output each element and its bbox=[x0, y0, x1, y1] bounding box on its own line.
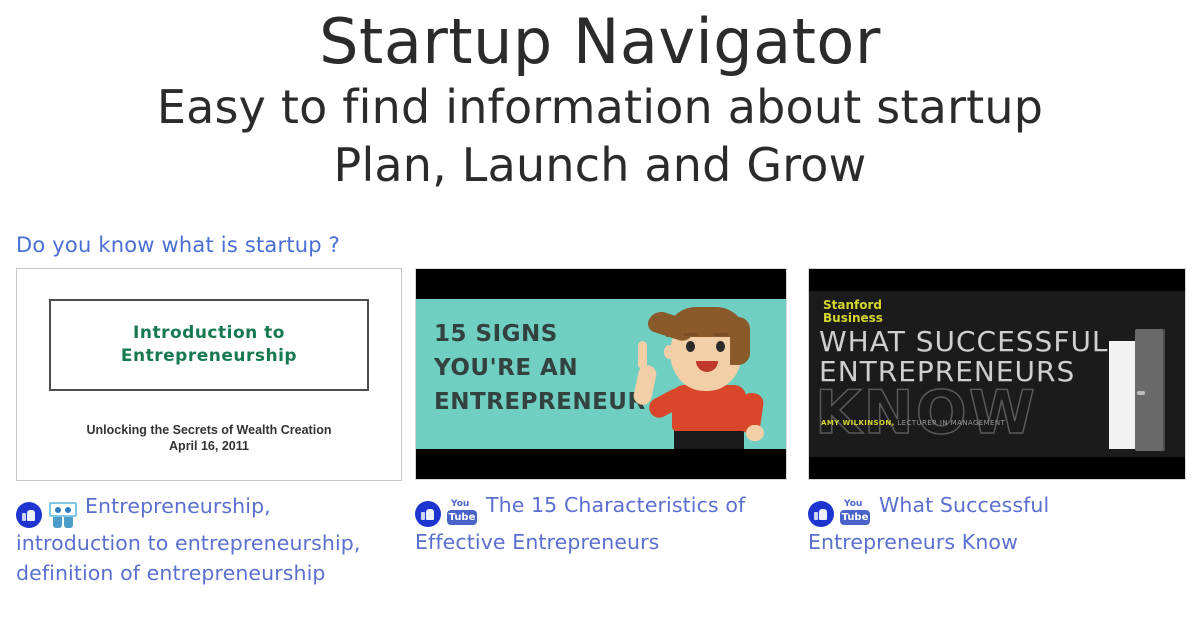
youtube-icon-top-text: You bbox=[451, 500, 469, 509]
page-subtitle-line-2: Plan, Launch and Grow bbox=[0, 136, 1200, 194]
cartoon-entrepreneur-illustration bbox=[630, 297, 780, 449]
result-card-3[interactable]: Stanford Business WHAT SUCCESSFUL ENTREP… bbox=[808, 268, 1186, 557]
outline-word-know: KNOW bbox=[815, 383, 1037, 443]
page-subtitle-line-1: Easy to find information about startup bbox=[0, 78, 1200, 136]
youtube-icon-top-text: You bbox=[844, 500, 862, 509]
result-card-1[interactable]: Introduction to Entrepreneurship Unlocki… bbox=[16, 268, 402, 588]
slide-page: Startup Navigator Easy to find informati… bbox=[0, 0, 1200, 630]
result-caption-3[interactable]: You Tube What Successful Entrepreneurs K… bbox=[808, 490, 1186, 557]
like-icon[interactable] bbox=[415, 501, 441, 527]
result-caption-2[interactable]: You Tube The 15 Characteristics of Effec… bbox=[415, 490, 787, 557]
letterbox-bottom bbox=[809, 457, 1185, 479]
slide-title-line-2: Entrepreneurship bbox=[121, 346, 297, 366]
byline-role: LECTURER IN MANAGEMENT bbox=[897, 419, 1005, 427]
page-title: Startup Navigator bbox=[0, 6, 1200, 78]
youtube-icon[interactable]: You Tube bbox=[840, 500, 872, 527]
slide-footer-line-2: April 16, 2011 bbox=[25, 438, 393, 454]
stanford-panel: Stanford Business WHAT SUCCESSFUL ENTREP… bbox=[809, 291, 1185, 457]
logo-line-1: Stanford bbox=[823, 298, 882, 312]
header: Startup Navigator Easy to find informati… bbox=[0, 0, 1200, 194]
logo-line-2: Business bbox=[823, 311, 883, 325]
letterbox-bottom bbox=[416, 449, 786, 479]
slideshare-icon[interactable] bbox=[48, 502, 78, 528]
icon-group-2: You Tube bbox=[415, 500, 479, 527]
slide-footer-line-1: Unlocking the Secrets of Wealth Creation bbox=[25, 422, 393, 438]
teal-headline: 15 SIGNS YOU'RE AN ENTREPRENEUR bbox=[434, 317, 646, 419]
slide-title-box: Introduction to Entrepreneurship bbox=[49, 299, 369, 391]
thumbnail-slideshare[interactable]: Introduction to Entrepreneurship Unlocki… bbox=[16, 268, 402, 481]
slide-canvas: Introduction to Entrepreneurship Unlocki… bbox=[25, 277, 393, 472]
letterbox-top bbox=[809, 269, 1185, 291]
result-caption-1[interactable]: Entrepreneurship, introduction to entrep… bbox=[16, 491, 402, 588]
letterbox-top bbox=[416, 269, 786, 299]
like-icon[interactable] bbox=[808, 501, 834, 527]
slide-footer: Unlocking the Secrets of Wealth Creation… bbox=[25, 422, 393, 454]
like-icon[interactable] bbox=[16, 502, 42, 528]
icon-group-1 bbox=[16, 502, 78, 528]
question-label: Do you know what is startup ? bbox=[16, 233, 340, 257]
slide-title-text: Introduction to Entrepreneurship bbox=[121, 322, 297, 368]
byline-name: AMY WILKINSON, bbox=[821, 419, 895, 427]
youtube-icon-bottom-text: Tube bbox=[840, 510, 870, 525]
teal-line-3: ENTREPRENEUR bbox=[434, 389, 646, 415]
stanford-byline: AMY WILKINSON, LECTURER IN MANAGEMENT bbox=[821, 419, 1005, 427]
headline-line-1: WHAT SUCCESSFUL bbox=[819, 325, 1109, 358]
slide-title-line-1: Introduction to bbox=[133, 323, 285, 343]
thumbnail-stanford[interactable]: Stanford Business WHAT SUCCESSFUL ENTREP… bbox=[808, 268, 1186, 480]
teal-line-1: 15 SIGNS bbox=[434, 321, 558, 347]
thumbnail-15-signs[interactable]: 15 SIGNS YOU'RE AN ENTREPRENEUR bbox=[415, 268, 787, 480]
icon-group-3: You Tube bbox=[808, 500, 872, 527]
teal-line-2: YOU'RE AN bbox=[434, 355, 578, 381]
result-card-2[interactable]: 15 SIGNS YOU'RE AN ENTREPRENEUR bbox=[415, 268, 787, 557]
teal-panel: 15 SIGNS YOU'RE AN ENTREPRENEUR bbox=[416, 299, 786, 449]
open-door-illustration bbox=[1109, 329, 1171, 449]
youtube-icon-bottom-text: Tube bbox=[447, 510, 477, 525]
stanford-business-logo: Stanford Business bbox=[823, 299, 883, 325]
youtube-icon[interactable]: You Tube bbox=[447, 500, 479, 527]
